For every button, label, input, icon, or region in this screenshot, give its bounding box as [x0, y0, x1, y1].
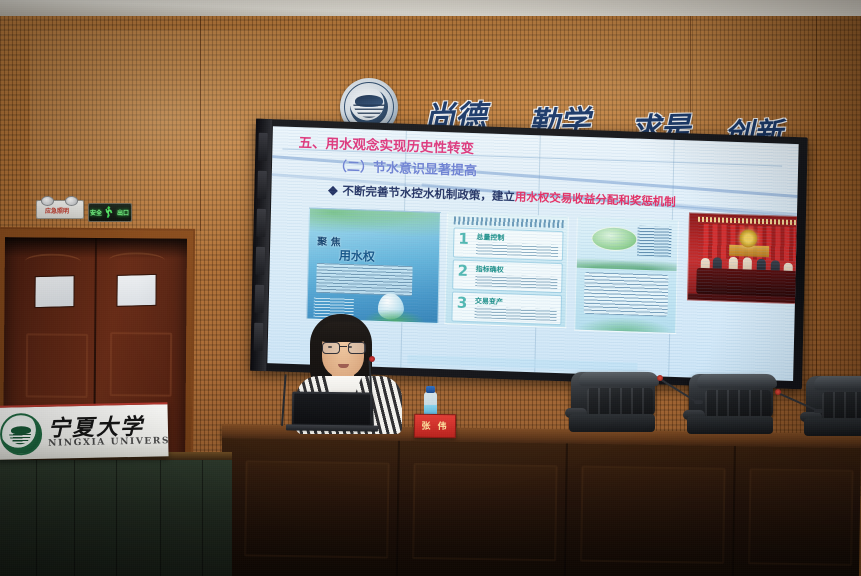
poster-paragraph-body — [584, 272, 669, 317]
door-window-left — [34, 275, 74, 308]
poster-text-block — [316, 263, 413, 296]
tree-badge-icon — [591, 226, 638, 252]
laptop-screen — [294, 393, 370, 424]
presenter-microphone-head — [369, 356, 375, 362]
conference-hall-photo: 1958 尚德 勤学 求是 创新 五、用水观念实现历史性 — [0, 0, 861, 576]
emergency-light: 应急照明 — [36, 200, 84, 219]
meeting-table — [696, 268, 799, 298]
office-chair[interactable] — [683, 374, 775, 436]
nameplate-text: 张 伟 — [415, 419, 455, 433]
card-body-lines — [476, 242, 558, 257]
university-sign-board: 宁夏大学 NINGXIA UNIVERSITY — [0, 402, 169, 460]
slide-figure-poster-water-rights: 聚 焦 用水权 — [306, 207, 441, 323]
door-window-right — [116, 274, 156, 307]
wall-seam — [200, 16, 201, 231]
laptop[interactable] — [292, 391, 372, 428]
poster-header-band — [454, 216, 564, 228]
slide-section-title: 五、用水观念实现历史性转变 — [298, 131, 474, 157]
conference-desk-front — [220, 438, 861, 576]
card-body-lines — [475, 274, 557, 289]
exit-sign-text-left: 安全 — [90, 208, 102, 217]
exit-sign: 安全 出口 — [88, 203, 132, 222]
card-number: 3 — [457, 296, 468, 311]
office-chair[interactable] — [565, 372, 657, 434]
slide-figure-photo-meeting-room — [687, 212, 799, 304]
slide-figure-poster-three-points: 1 总量控制 2 指标确权 3 交易变产 — [444, 212, 569, 328]
university-logo-icon — [0, 413, 42, 456]
desk-nameplate: 张 伟 — [414, 414, 456, 439]
numbered-card: 1 总量控制 — [453, 227, 564, 261]
university-name-english: NINGXIA UNIVERSITY — [48, 436, 168, 449]
poster-footer-decor — [575, 316, 675, 333]
poster-headline-2: 用水权 — [339, 247, 375, 265]
numbered-card: 3 交易变产 — [451, 291, 562, 325]
poster-hill-decor — [577, 256, 677, 271]
door-top-shadow — [5, 237, 187, 259]
poster-paragraph-top — [637, 226, 672, 257]
slide-bullet-plain: 不断完善节水控水机制政策，建立 — [342, 184, 515, 204]
card-number: 1 — [458, 232, 469, 247]
glasses-icon — [322, 342, 364, 353]
exit-sign-text-right: 出口 — [117, 208, 129, 217]
presenter-fringe — [319, 322, 367, 342]
emergency-light-label: 应急照明 — [45, 206, 69, 215]
slide-subsection-title: （二）节水意识显著提高 — [334, 155, 477, 179]
slide-figure-poster-green-report — [574, 217, 679, 334]
podium — [0, 452, 232, 576]
card-number: 2 — [457, 264, 468, 279]
card-body-lines — [474, 306, 556, 321]
poster-headline: 聚 焦 — [317, 233, 341, 249]
bottle-cap — [426, 386, 435, 393]
slide-bullet-line: 不断完善节水控水机制政策，建立用水权交易收益分配和奖惩机制 — [329, 182, 676, 210]
bullet-diamond-icon — [328, 186, 338, 196]
running-man-icon — [103, 206, 115, 218]
laptop-base — [286, 424, 378, 431]
numbered-card: 2 指标确权 — [452, 259, 563, 293]
